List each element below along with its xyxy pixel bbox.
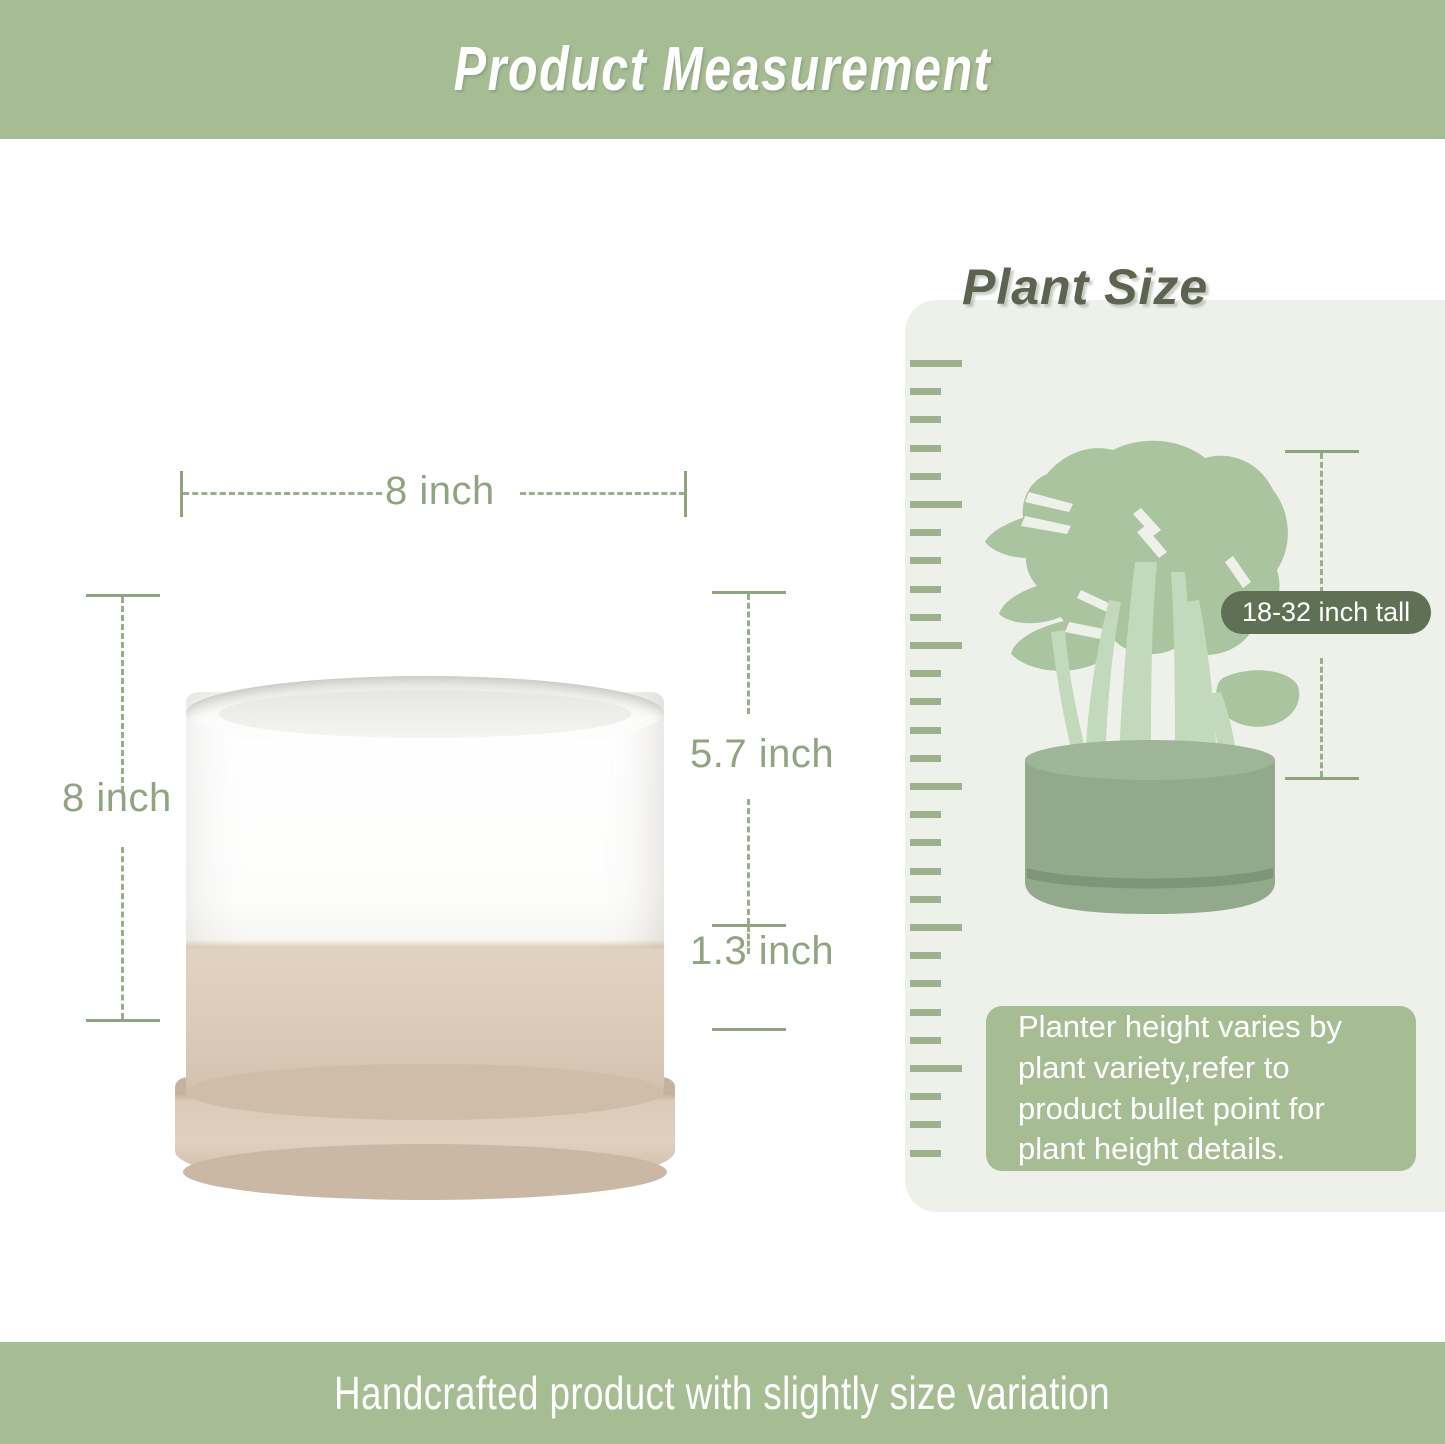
ruler-tick xyxy=(910,1037,941,1044)
product-photo-planter xyxy=(175,692,675,1192)
ruler-tick xyxy=(910,614,941,621)
ruler-tick xyxy=(910,868,941,875)
ruler-tick xyxy=(910,811,941,818)
ruler-tick xyxy=(910,698,941,705)
ruler-tick xyxy=(910,416,941,423)
ruler-tick xyxy=(910,445,941,452)
plant-height-badge-label: 18-32 inch tall xyxy=(1242,597,1410,628)
plant-pot-illustration xyxy=(1025,740,1275,914)
height-dash-bottom xyxy=(121,847,124,1019)
body-height-label: 5.7 inch xyxy=(690,732,834,777)
plant-dim-dash-top xyxy=(1320,453,1323,593)
ruler-tick xyxy=(910,1009,941,1016)
saucer-height-label: 1.3 inch xyxy=(690,929,834,974)
width-dash-left xyxy=(183,492,382,495)
height-cap-bottom xyxy=(86,1019,160,1022)
width-cap-right xyxy=(684,471,687,517)
plant-dim-cap-bottom xyxy=(1285,777,1359,780)
page-title: Product Measurement xyxy=(454,34,992,105)
ruler-tick xyxy=(910,501,962,508)
ruler-tick xyxy=(910,755,941,762)
ruler-tick xyxy=(910,783,962,790)
ruler-tick xyxy=(910,952,941,959)
ruler-tick xyxy=(910,360,962,367)
product-measurement-diagram: 8 inch 8 inch 5.7 inch 1.3 inch xyxy=(0,139,900,1342)
saucer-height-cap-bottom xyxy=(712,1028,786,1031)
ruler-tick xyxy=(910,896,941,903)
ruler-scale-icon xyxy=(910,360,980,1170)
ruler-tick xyxy=(910,924,962,931)
ruler-tick xyxy=(910,1150,941,1157)
ruler-tick xyxy=(910,642,962,649)
plant-dim-dash-bottom xyxy=(1320,658,1323,777)
plant-svg xyxy=(985,430,1315,940)
plant-height-note-text: Planter height varies by plant variety,r… xyxy=(1018,1007,1384,1171)
footer-note: Handcrafted product with slightly size v… xyxy=(334,1366,1110,1420)
saucer-base-ellipse xyxy=(183,1144,667,1200)
ruler-tick xyxy=(910,670,941,677)
plant-height-note-box: Planter height varies by plant variety,r… xyxy=(986,1006,1416,1171)
ruler-tick xyxy=(910,1093,941,1100)
ruler-tick xyxy=(910,1121,941,1128)
ruler-tick xyxy=(910,727,941,734)
ruler-tick xyxy=(910,980,941,987)
plant-size-title: Plant Size xyxy=(962,258,1208,316)
plant-height-badge: 18-32 inch tall xyxy=(1221,591,1431,634)
height-dash-top xyxy=(121,597,124,792)
plant-illustration xyxy=(985,430,1315,940)
header-banner: Product Measurement xyxy=(0,0,1445,139)
pot-bottom-ellipse xyxy=(186,1064,664,1120)
ruler-tick xyxy=(910,388,941,395)
ruler-tick xyxy=(910,557,941,564)
ruler-tick xyxy=(910,473,941,480)
body-height-dash-bottom xyxy=(747,799,750,924)
ruler-tick xyxy=(910,529,941,536)
ruler-tick xyxy=(910,586,941,593)
body-height-dash-top xyxy=(747,594,750,714)
width-dash-right xyxy=(520,492,685,495)
pot-interior xyxy=(219,690,631,738)
height-label: 8 inch xyxy=(62,776,172,821)
width-label: 8 inch xyxy=(385,469,495,514)
footer-banner: Handcrafted product with slightly size v… xyxy=(0,1342,1445,1444)
ruler-tick xyxy=(910,1065,962,1072)
ruler-tick xyxy=(910,839,941,846)
